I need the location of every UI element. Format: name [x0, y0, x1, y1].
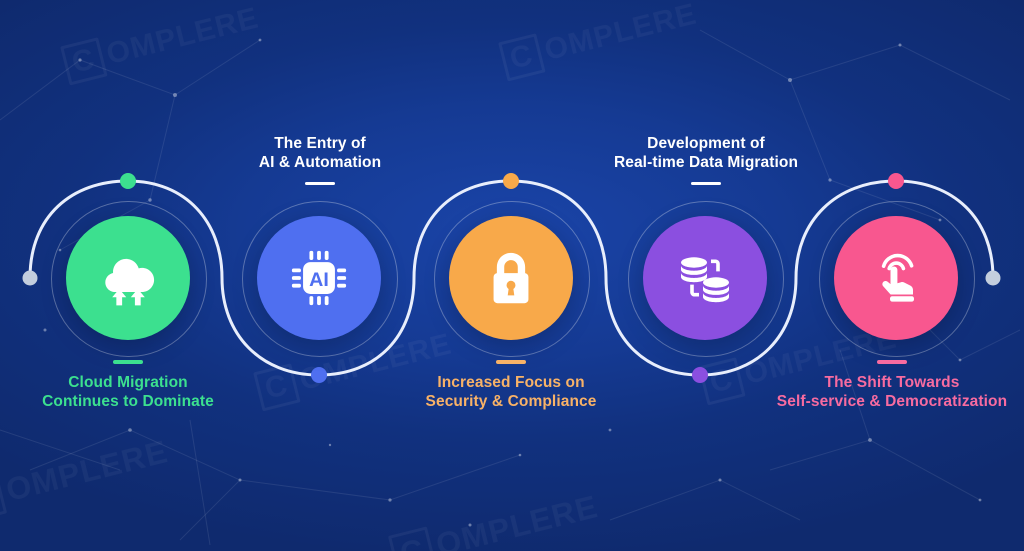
infographic-canvas: COMPLERE COMPLERE COMPLERE COMPLERE COMP…	[0, 0, 1024, 551]
caption-line-1: Increased Focus on	[383, 373, 639, 392]
endpoint-start	[23, 271, 38, 286]
caption-line-2: Self-service & Democratization	[756, 392, 1024, 411]
cloud-upload-icon	[95, 245, 161, 311]
caption-rule-self-service	[877, 360, 907, 364]
caption-security-compliance: Increased Focus on Security & Compliance	[383, 360, 639, 411]
caption-ai-automation: The Entry of AI & Automation	[192, 134, 448, 185]
ai-chip-label: AI	[309, 269, 329, 291]
step-circle-ai-automation[interactable]: AI	[257, 216, 381, 340]
caption-line-1: Cloud Migration	[0, 373, 256, 392]
ai-chip-icon: AI	[285, 244, 353, 312]
caption-rule-realtime-data-migration	[691, 182, 721, 186]
touch-hand-icon	[864, 246, 928, 310]
caption-rule-cloud-migration	[113, 360, 143, 364]
caption-rule-security-compliance	[496, 360, 526, 364]
step-circle-realtime-data-migration[interactable]	[643, 216, 767, 340]
endpoint-end	[986, 271, 1001, 286]
node-dot-security-compliance	[503, 173, 519, 189]
padlock-icon	[480, 247, 542, 309]
database-transfer-icon	[673, 246, 737, 310]
step-circle-self-service[interactable]	[834, 216, 958, 340]
caption-realtime-data-migration: Development of Real-time Data Migration	[578, 134, 834, 185]
caption-line-1: The Shift Towards	[756, 373, 1024, 392]
step-circle-cloud-migration[interactable]	[66, 216, 190, 340]
node-dot-self-service	[888, 173, 904, 189]
caption-line-2: Continues to Dominate	[0, 392, 256, 411]
caption-line-1: The Entry of	[192, 134, 448, 153]
caption-line-2: Real-time Data Migration	[578, 153, 834, 172]
step-circle-security-compliance[interactable]	[449, 216, 573, 340]
caption-line-2: Security & Compliance	[383, 392, 639, 411]
node-dot-cloud-migration	[120, 173, 136, 189]
node-dot-realtime-data-migration	[692, 367, 708, 383]
node-dot-ai-automation	[311, 367, 327, 383]
caption-line-1: Development of	[578, 134, 834, 153]
caption-rule-ai-automation	[305, 182, 335, 186]
caption-line-2: AI & Automation	[192, 153, 448, 172]
caption-self-service: The Shift Towards Self-service & Democra…	[756, 360, 1024, 411]
caption-cloud-migration: Cloud Migration Continues to Dominate	[0, 360, 256, 411]
